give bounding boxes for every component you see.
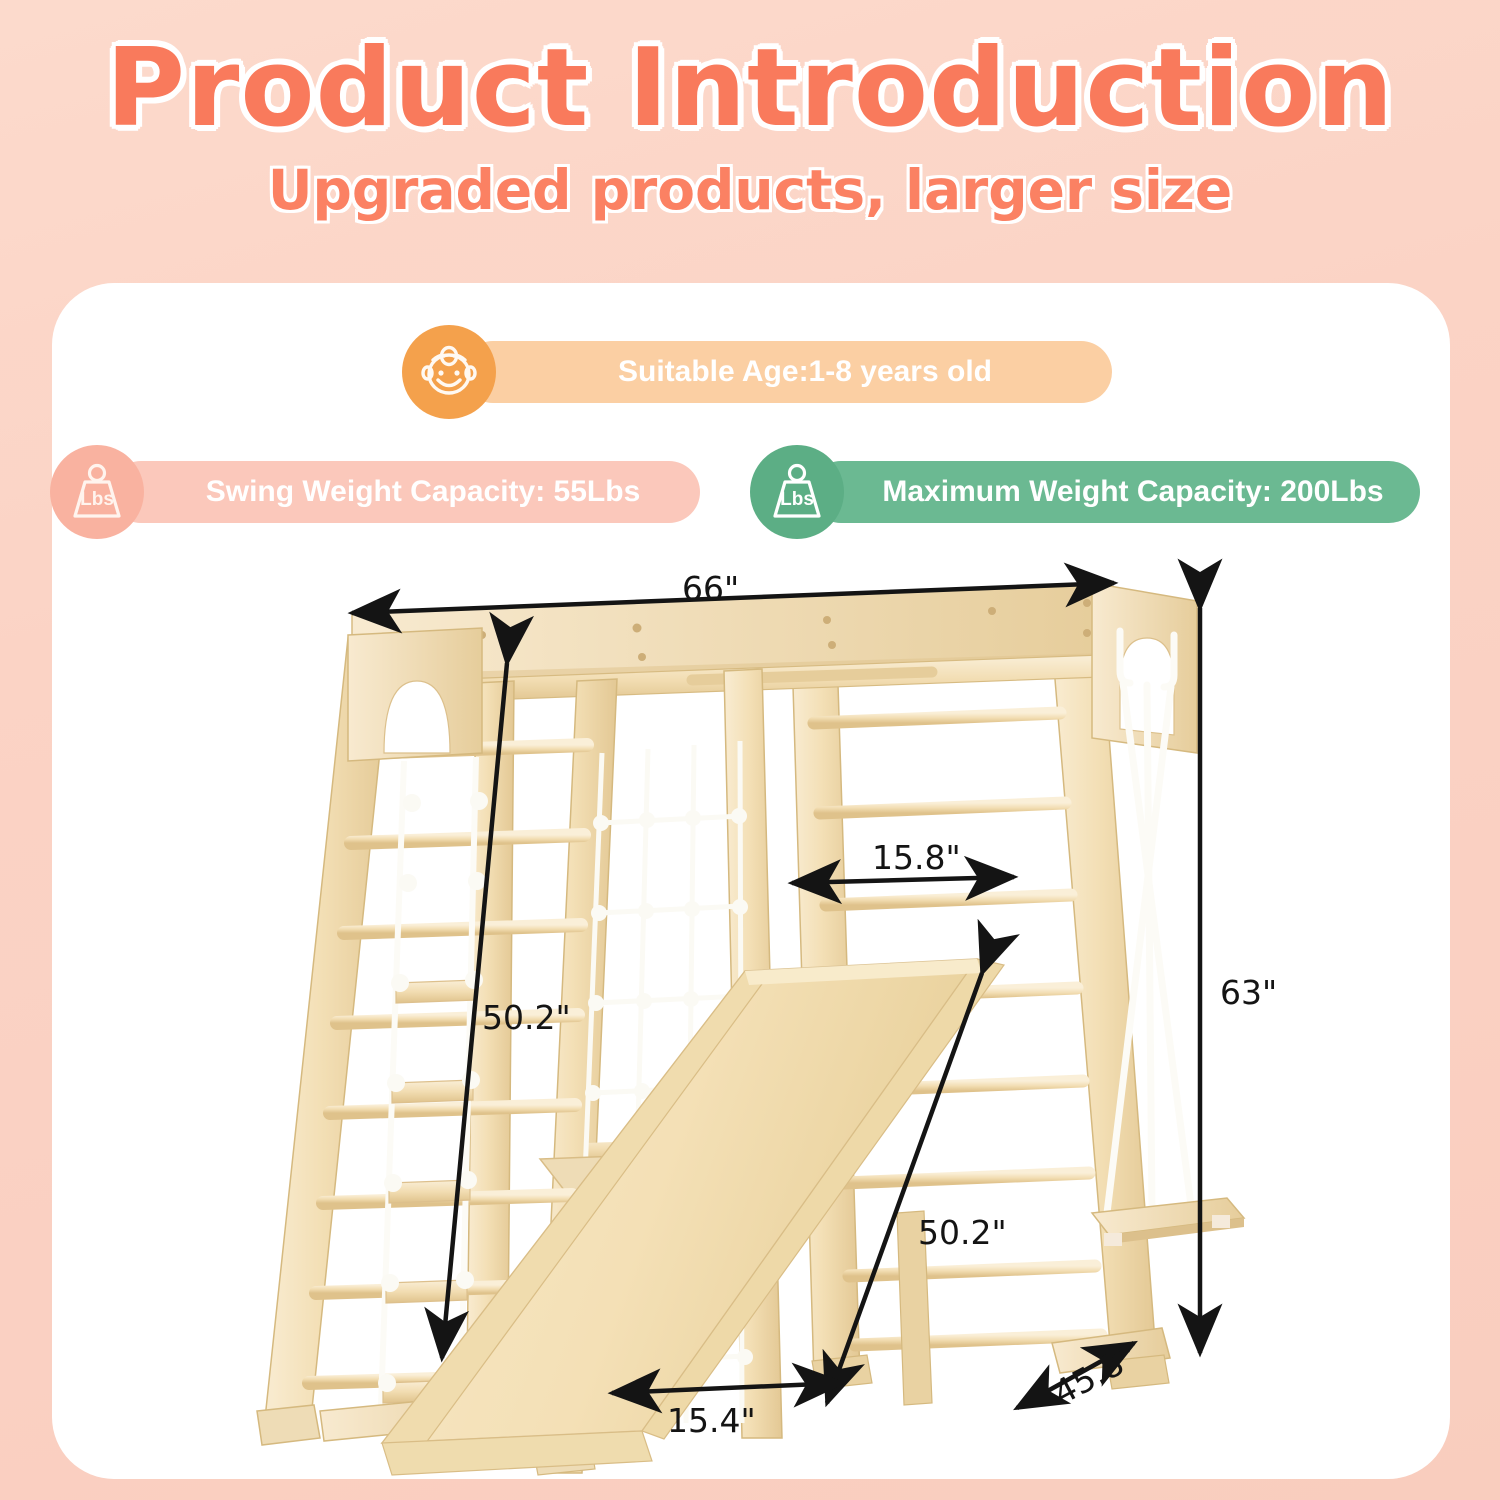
baby-face-icon [402,325,496,419]
dimension-label-slide-length: 50.2" [918,1213,1007,1252]
page-subtitle: Upgraded products, larger size [0,158,1500,222]
badge-swing-weight-label: Swing Weight Capacity: 55Lbs [110,461,700,523]
svg-text:Lbs: Lbs [80,489,114,510]
badge-max-weight-label: Maximum Weight Capacity: 200Lbs [810,461,1420,523]
weight-lbs-icon: Lbs [750,445,844,539]
page-header: Product Introduction Upgraded products, … [0,0,1500,285]
dimension-label-overall-height: 63" [1220,973,1277,1012]
badge-suitable-age: Suitable Age:1-8 years old [402,325,1112,419]
badge-suitable-age-label: Suitable Age:1-8 years old [462,341,1112,403]
badge-max-weight: Lbs Maximum Weight Capacity: 200Lbs [750,445,1420,539]
dimension-label-overall-width: 66" [682,569,739,608]
dimension-label-slide-width: 15.4" [667,1401,756,1440]
badge-swing-weight: Lbs Swing Weight Capacity: 55Lbs [50,445,700,539]
dimension-label-bar-spacing: 15.8" [872,838,961,877]
dimension-label-left-ladder-height: 50.2" [482,998,571,1037]
weight-lbs-icon: Lbs [50,445,144,539]
page-title: Product Introduction [0,34,1500,144]
left-arch-panel [348,628,482,761]
svg-text:Lbs: Lbs [780,489,814,510]
